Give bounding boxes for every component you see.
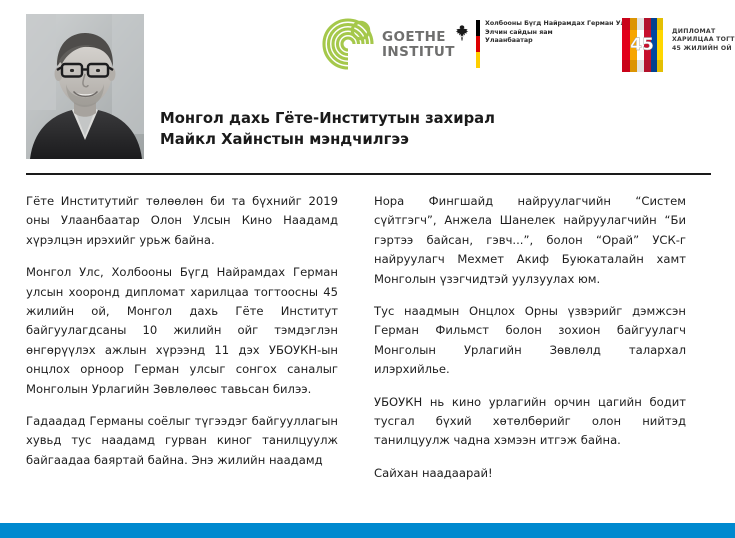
page-title: Монгол дахь Гёте-Институтын захирал Майк… <box>160 108 660 150</box>
page-header: GOETHE INSTITUT Холбооны Бүгд Найрамдах … <box>0 0 735 175</box>
body-columns: Гёте Институтийг төлөөлөн би та бүхнийг … <box>0 192 735 492</box>
federal-eagle-icon <box>454 24 470 42</box>
anniversary-line1: ДИПЛОМАТ <box>672 28 735 36</box>
anniversary-logo: 45 ДИПЛОМАТ ХАРИЛЦАА ТОГТООСНЫ 45 ЖИЛИЙН… <box>620 14 735 76</box>
closing-salutation: Сайхан наадаарай! <box>374 464 686 483</box>
embassy-line3: Улаанбаатар <box>485 37 639 46</box>
svg-text:45: 45 <box>630 35 654 55</box>
paragraph: Тус наадмын Онцлох Орны үзвэрийг дэмжсэн… <box>374 302 686 380</box>
paragraph: УБОУКН нь кино урлагийн орчин цагийн бод… <box>374 393 686 451</box>
goethe-spiral-icon <box>320 16 376 72</box>
right-text-column: Нора Фингшайд найруулагчийн “Систем сүйт… <box>374 192 686 496</box>
goethe-word-line2: INSTITUT <box>382 45 455 60</box>
embassy-line1: Холбооны Бүгд Найрамдах Герман Улсын <box>485 20 639 29</box>
left-text-column: Гёте Институтийг төлөөлөн би та бүхнийг … <box>26 192 338 483</box>
page-title-line2: Майкл Хайнстын мэндчилгээ <box>160 129 660 150</box>
goethe-institut-logo: GOETHE INSTITUT <box>320 16 445 74</box>
german-flag-bar <box>476 20 480 68</box>
header-divider <box>26 173 711 175</box>
director-portrait-photo <box>26 14 144 159</box>
embassy-line2: Элчин сайдын яам <box>485 29 639 38</box>
goethe-wordmark: GOETHE INSTITUT <box>382 30 455 59</box>
page-title-line1: Монгол дахь Гёте-Институтын захирал <box>160 108 660 129</box>
paragraph: Нора Фингшайд найруулагчийн “Систем сүйт… <box>374 192 686 289</box>
paragraph: Гёте Институтийг төлөөлөн би та бүхнийг … <box>26 192 338 250</box>
anniversary-line3: 45 ЖИЛИЙН ОЙ <box>672 45 735 53</box>
embassy-name-text: Холбооны Бүгд Найрамдах Герман Улсын Элч… <box>485 20 639 46</box>
portrait-illustration <box>26 14 144 159</box>
footer-accent-bar <box>0 523 735 538</box>
anniversary-caption: ДИПЛОМАТ ХАРИЛЦАА ТОГТООСНЫ 45 ЖИЛИЙН ОЙ <box>672 28 735 53</box>
goethe-word-line1: GOETHE <box>382 30 455 45</box>
german-embassy-logo: Холбооны Бүгд Найрамдах Герман Улсын Элч… <box>454 18 624 74</box>
anniversary-line2: ХАРИЛЦАА ТОГТООСНЫ <box>672 36 735 44</box>
anniversary-flag-mark-icon: 45 <box>620 14 666 76</box>
partner-logo-strip: GOETHE INSTITUT Холбооны Бүгд Найрамдах … <box>320 14 720 76</box>
paragraph: Монгол Улс, Холбооны Бүгд Найрамдах Герм… <box>26 263 338 399</box>
paragraph: Гадаадад Германы соёлыг түгээдэг байгуул… <box>26 412 338 470</box>
